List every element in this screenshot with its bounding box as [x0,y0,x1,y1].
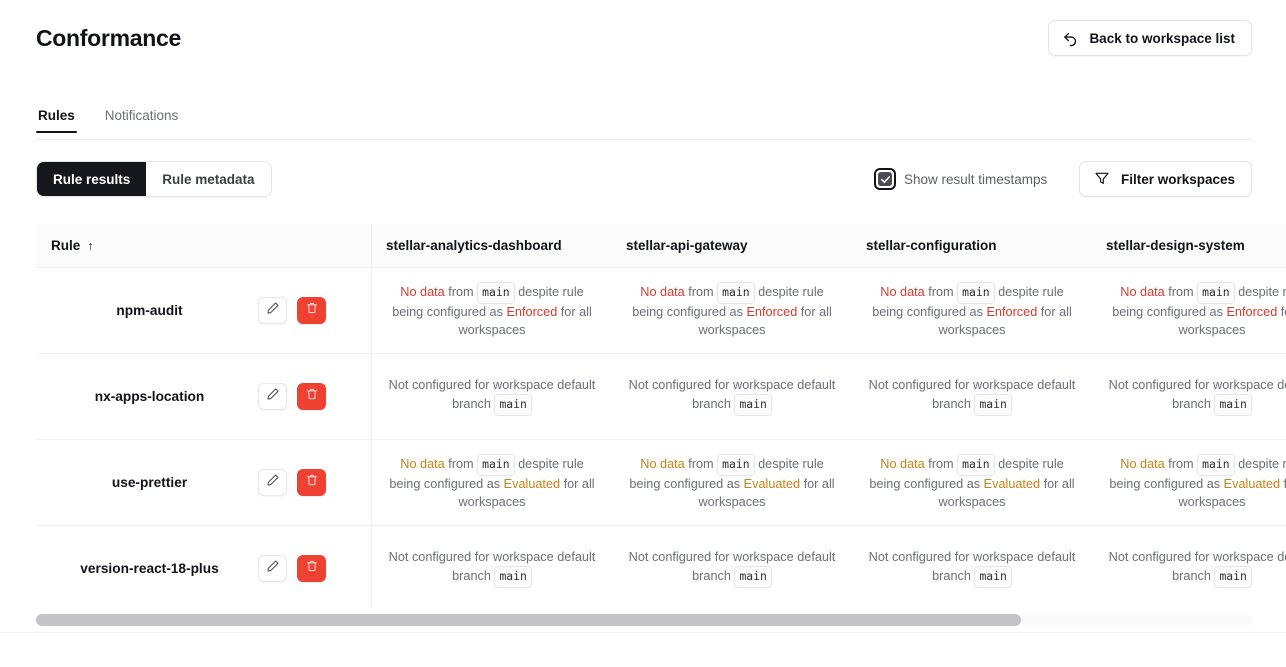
tab-rules[interactable]: Rules [36,108,77,132]
mode-label: Enforced [986,305,1037,319]
conformance-page: Conformance Back to workspace list Rules… [0,0,1286,667]
sticky-column-divider [336,354,372,440]
delete-rule-button[interactable] [297,469,326,496]
sticky-column-divider [336,268,372,354]
cell-text: No data from main despite rule being con… [1106,454,1286,511]
rule-name: npm-audit [51,302,248,320]
edit-icon [266,559,280,579]
trash-icon [305,559,319,579]
cell-text: Not configured for workspace default bra… [866,377,1078,417]
result-cell[interactable]: No data from main despite rule being con… [1092,268,1286,354]
sort-ascending-icon: ↑ [87,239,93,253]
show-timestamps-checkbox[interactable] [874,168,896,190]
sticky-column-divider [336,224,372,268]
tab-rules-label: Rules [38,108,75,123]
cell-text: No data from main despite rule being con… [626,454,838,511]
table-row: version-react-18-plus [36,526,336,608]
trash-icon [305,473,319,493]
edit-icon [266,473,280,493]
result-cell[interactable]: Not configured for workspace default bra… [372,354,612,440]
branch-badge: main [974,394,1011,416]
column-header-workspace-3[interactable]: stellar-design-system [1092,224,1286,268]
branch-badge: main [957,454,994,476]
status-label: No data [400,457,444,471]
status-label: No data [640,285,684,299]
cell-text: No data from main despite rule being con… [1106,282,1286,339]
status-label: No data [400,285,444,299]
result-cell[interactable]: Not configured for workspace default bra… [612,526,852,608]
delete-rule-button[interactable] [297,383,326,410]
edit-rule-button[interactable] [258,383,287,410]
trash-icon [305,301,319,321]
filter-workspaces-label: Filter workspaces [1121,172,1235,187]
mode-label: Enforced [506,305,557,319]
delete-rule-button[interactable] [297,555,326,582]
page-title: Conformance [36,25,181,52]
result-cell[interactable]: Not configured for workspace default bra… [372,526,612,608]
horizontal-scrollbar-thumb[interactable] [36,614,1021,626]
cell-text: No data from main despite rule being con… [866,282,1078,339]
branch-badge: main [494,566,531,588]
cell-text: Not configured for workspace default bra… [1106,377,1286,417]
result-cell[interactable]: No data from main despite rule being con… [612,268,852,354]
rule-name: nx-apps-location [51,388,248,406]
status-label: No data [640,457,684,471]
result-cell[interactable]: No data from main despite rule being con… [852,440,1092,526]
table-grid: Rule ↑ stellar-analytics-dashboard stell… [36,224,1286,608]
view-mode-segmented-control: Rule results Rule metadata [36,161,272,197]
cell-text: Not configured for workspace default bra… [1106,549,1286,589]
conformance-results-table: Rule ↑ stellar-analytics-dashboard stell… [36,224,1286,608]
trash-icon [305,387,319,407]
branch-badge: main [1197,454,1234,476]
filter-workspaces-button[interactable]: Filter workspaces [1079,161,1252,197]
cell-text: No data from main despite rule being con… [866,454,1078,511]
column-header-workspace-1[interactable]: stellar-api-gateway [612,224,852,268]
checkbox-checked-icon [878,172,892,186]
result-cell[interactable]: No data from main despite rule being con… [372,268,612,354]
branch-badge: main [477,454,514,476]
branch-badge: main [717,454,754,476]
result-cell[interactable]: Not configured for workspace default bra… [1092,354,1286,440]
status-label: No data [880,285,924,299]
branch-badge: main [1197,282,1234,304]
back-arrow-icon [1062,30,1079,47]
cell-text: Not configured for workspace default bra… [626,549,838,589]
column-header-rule-label: Rule [51,238,80,253]
sticky-column-divider [336,440,372,526]
delete-rule-button[interactable] [297,297,326,324]
edit-rule-button[interactable] [258,297,287,324]
branch-badge: main [717,282,754,304]
result-cell[interactable]: Not configured for workspace default bra… [852,354,1092,440]
mode-label: Enforced [746,305,797,319]
edit-icon [266,301,280,321]
mode-label: Evaluated [1224,477,1280,491]
edit-icon [266,387,280,407]
branch-badge: main [477,282,514,304]
back-button-label: Back to workspace list [1089,31,1235,46]
result-cell[interactable]: Not configured for workspace default bra… [1092,526,1286,608]
sticky-column-divider [336,526,372,608]
table-row: npm-audit [36,268,336,354]
result-cell[interactable]: No data from main despite rule being con… [1092,440,1286,526]
column-header-rule[interactable]: Rule ↑ [36,224,336,268]
status-label: No data [1120,285,1164,299]
primary-tabs: Rules Notifications [36,108,1252,140]
cell-text: Not configured for workspace default bra… [866,549,1078,589]
table-row: nx-apps-location [36,354,336,440]
mode-label: Evaluated [984,477,1040,491]
result-cell[interactable]: No data from main despite rule being con… [852,268,1092,354]
cell-text: No data from main despite rule being con… [386,282,598,339]
show-result-timestamps-control: Show result timestamps [874,168,1047,190]
back-to-workspace-list-button[interactable]: Back to workspace list [1048,20,1252,56]
controls-row: Rule results Rule metadata Show result t… [0,161,1286,199]
result-cell[interactable]: No data from main despite rule being con… [372,440,612,526]
tab-notifications-label: Notifications [105,108,179,123]
status-label: No data [1120,457,1164,471]
rule-name: use-prettier [51,474,248,492]
branch-badge: main [734,566,771,588]
branch-badge: main [957,282,994,304]
segment-rule-metadata-label: Rule metadata [162,172,254,187]
cell-text: No data from main despite rule being con… [626,282,838,339]
cell-text: Not configured for workspace default bra… [386,377,598,417]
column-header-workspace-0[interactable]: stellar-analytics-dashboard [372,224,612,268]
mode-label: Evaluated [504,477,560,491]
edit-rule-button[interactable] [258,555,287,582]
cell-text: No data from main despite rule being con… [386,454,598,511]
page-header: Conformance Back to workspace list [0,0,1286,78]
result-cell[interactable]: Not configured for workspace default bra… [852,526,1092,608]
horizontal-scrollbar-track[interactable] [36,614,1252,626]
segment-rule-metadata[interactable]: Rule metadata [146,162,270,196]
cell-text: Not configured for workspace default bra… [626,377,838,417]
mode-label: Enforced [1226,305,1277,319]
mode-label: Evaluated [744,477,800,491]
show-timestamps-label[interactable]: Show result timestamps [904,172,1047,187]
branch-badge: main [1214,394,1251,416]
table-row: use-prettier [36,440,336,526]
cell-text: Not configured for workspace default bra… [386,549,598,589]
status-label: No data [880,457,924,471]
segment-rule-results[interactable]: Rule results [37,162,146,196]
rule-name: version-react-18-plus [51,560,248,578]
edit-rule-button[interactable] [258,469,287,496]
branch-badge: main [734,394,771,416]
branch-badge: main [974,566,1011,588]
segment-rule-results-label: Rule results [53,172,130,187]
funnel-icon [1094,170,1110,189]
branch-badge: main [1214,566,1251,588]
result-cell[interactable]: No data from main despite rule being con… [612,440,852,526]
column-header-workspace-2[interactable]: stellar-configuration [852,224,1092,268]
bottom-divider [0,632,1286,633]
tab-notifications[interactable]: Notifications [103,108,181,132]
result-cell[interactable]: Not configured for workspace default bra… [612,354,852,440]
branch-badge: main [494,394,531,416]
